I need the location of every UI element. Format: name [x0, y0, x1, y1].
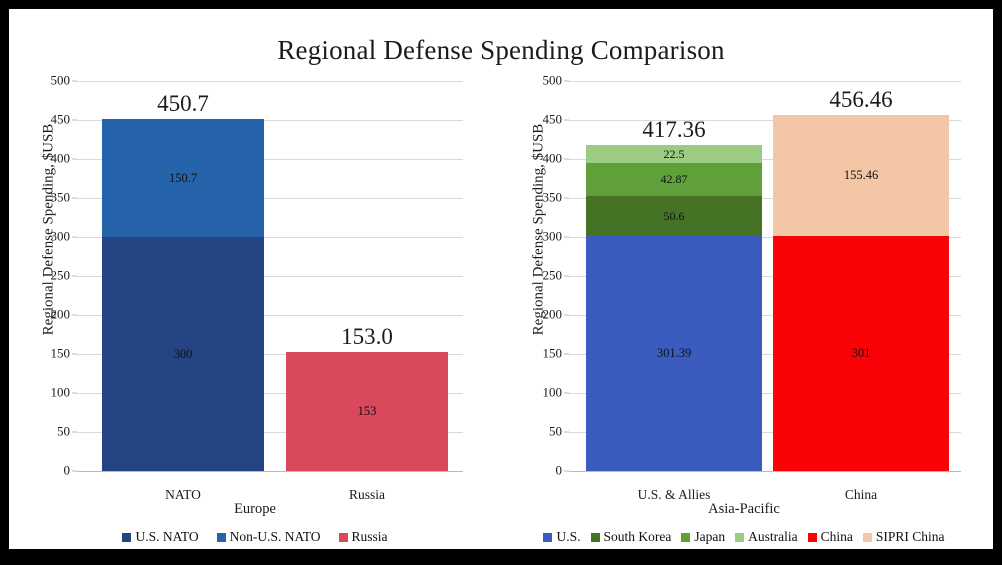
y-tick-mark	[564, 120, 569, 121]
bar-russia[interactable]: 153	[286, 352, 448, 471]
gridline	[77, 81, 463, 82]
page-title: Regional Defense Spending Comparison	[9, 35, 993, 66]
y-axis-tick-label: 0	[64, 463, 71, 479]
legend-swatch-icon	[735, 533, 744, 542]
y-tick-mark	[564, 354, 569, 355]
y-axis-tick-label: 300	[51, 229, 71, 245]
bar-total-label: 456.46	[829, 87, 892, 113]
y-axis-tick-label: 250	[543, 268, 563, 284]
bar-segment-russia[interactable]: 153	[286, 352, 448, 471]
bar-segment-u-s[interactable]: 301.39	[586, 236, 762, 471]
gridline	[569, 81, 961, 82]
y-tick-mark	[72, 315, 77, 316]
plot-area-europe: 500450400350300250200150100500450.7150.7…	[77, 81, 463, 471]
legend-label: Australia	[748, 529, 798, 545]
segment-value-label: 42.87	[661, 172, 688, 187]
bar-nato[interactable]: 150.7300	[102, 119, 264, 471]
legend-europe: U.S. NATONon-U.S. NATORussia	[15, 529, 495, 545]
legend-label: South Korea	[604, 529, 672, 545]
legend-swatch-icon	[591, 533, 600, 542]
y-axis-tick-label: 400	[51, 151, 71, 167]
y-axis-tick-label: 200	[51, 307, 71, 323]
y-axis-tick-label: 100	[51, 385, 71, 401]
bar-china[interactable]: 155.46301	[773, 115, 949, 471]
y-axis-tick-label: 350	[51, 190, 71, 206]
y-tick-mark	[564, 432, 569, 433]
y-axis-tick-label: 250	[51, 268, 71, 284]
bar-segment-australia[interactable]: 22.5	[586, 145, 762, 163]
bar-segment-japan[interactable]: 42.87	[586, 163, 762, 196]
segment-value-label: 300	[174, 347, 193, 362]
y-tick-mark	[72, 393, 77, 394]
y-tick-mark	[564, 393, 569, 394]
legend-swatch-icon	[808, 533, 817, 542]
y-tick-mark	[72, 159, 77, 160]
legend-label: U.S.	[556, 529, 580, 545]
segment-value-label: 22.5	[664, 147, 685, 162]
legend-swatch-icon	[543, 533, 552, 542]
bar-total-label: 450.7	[157, 91, 209, 117]
bar-total-label: 153.0	[341, 324, 393, 350]
legend-label: Japan	[694, 529, 725, 545]
y-tick-mark	[564, 81, 569, 82]
legend-item-u-s-nato[interactable]: U.S. NATO	[122, 529, 198, 545]
legend-swatch-icon	[122, 533, 131, 542]
y-axis-tick-label: 200	[543, 307, 563, 323]
bar-segment-non-u-s-nato[interactable]: 150.7	[102, 119, 264, 237]
legend-label: Russia	[352, 529, 388, 545]
bar-segment-sipri-china[interactable]: 155.46	[773, 115, 949, 236]
y-tick-mark	[564, 315, 569, 316]
legend-swatch-icon	[217, 533, 226, 542]
legend-swatch-icon	[681, 533, 690, 542]
y-axis-tick-label: 150	[51, 346, 71, 362]
gridline	[569, 471, 961, 472]
segment-value-label: 301.39	[657, 346, 691, 361]
gridline	[77, 471, 463, 472]
y-axis-tick-label: 0	[556, 463, 563, 479]
x-axis-title-europe: Europe	[15, 501, 495, 518]
legend-item-australia[interactable]: Australia	[735, 529, 798, 545]
legend-asia-pacific: U.S.South KoreaJapanAustraliaChinaSIPRI …	[501, 529, 987, 545]
y-axis-tick-label: 300	[543, 229, 563, 245]
y-tick-mark	[72, 471, 77, 472]
panel-asia-pacific: Regional Defense Spending, $USB 50045040…	[501, 71, 987, 521]
legend-item-non-u-s-nato[interactable]: Non-U.S. NATO	[217, 529, 321, 545]
legend-label: Non-U.S. NATO	[230, 529, 321, 545]
segment-value-label: 150.7	[169, 171, 197, 186]
y-tick-mark	[564, 276, 569, 277]
legend-swatch-icon	[339, 533, 348, 542]
y-axis-tick-label: 50	[57, 424, 70, 440]
panel-europe: Regional Defense Spending, $USB 50045040…	[15, 71, 495, 521]
y-tick-mark	[564, 237, 569, 238]
bar-segment-u-s-nato[interactable]: 300	[102, 237, 264, 471]
y-axis-tick-label: 500	[543, 73, 563, 89]
y-axis-tick-label: 100	[543, 385, 563, 401]
y-axis-tick-label: 150	[543, 346, 563, 362]
y-tick-mark	[72, 237, 77, 238]
legend-item-south-korea[interactable]: South Korea	[591, 529, 672, 545]
segment-value-label: 153	[358, 404, 377, 419]
bar-segment-south-korea[interactable]: 50.6	[586, 196, 762, 235]
legend-item-japan[interactable]: Japan	[681, 529, 725, 545]
legend-item-russia[interactable]: Russia	[339, 529, 388, 545]
y-tick-mark	[564, 471, 569, 472]
legend-label: SIPRI China	[876, 529, 945, 545]
segment-value-label: 50.6	[664, 209, 685, 224]
y-axis-tick-label: 50	[549, 424, 562, 440]
plot-area-asia: 500450400350300250200150100500417.3622.5…	[569, 81, 961, 471]
y-tick-mark	[72, 198, 77, 199]
segment-value-label: 155.46	[844, 168, 878, 183]
legend-label: China	[821, 529, 853, 545]
y-tick-mark	[72, 120, 77, 121]
legend-item-u-s[interactable]: U.S.	[543, 529, 580, 545]
y-axis-tick-label: 450	[51, 112, 71, 128]
y-axis-tick-label: 350	[543, 190, 563, 206]
y-tick-mark	[564, 159, 569, 160]
segment-value-label: 301	[852, 346, 871, 361]
bar-total-label: 417.36	[642, 117, 705, 143]
chart-frame: Regional Defense Spending Comparison Reg…	[9, 9, 993, 549]
y-axis-tick-label: 400	[543, 151, 563, 167]
y-tick-mark	[72, 276, 77, 277]
legend-item-china[interactable]: China	[808, 529, 853, 545]
y-tick-mark	[72, 432, 77, 433]
y-tick-mark	[564, 198, 569, 199]
bar-u-s-allies[interactable]: 22.542.8750.6301.39	[586, 145, 762, 471]
legend-label: U.S. NATO	[135, 529, 198, 545]
y-tick-mark	[72, 81, 77, 82]
y-axis-tick-label: 450	[543, 112, 563, 128]
x-axis-title-asia: Asia-Pacific	[501, 501, 987, 518]
y-tick-mark	[72, 354, 77, 355]
y-axis-tick-label: 500	[51, 73, 71, 89]
legend-swatch-icon	[863, 533, 872, 542]
legend-item-sipri-china[interactable]: SIPRI China	[863, 529, 945, 545]
bar-segment-china[interactable]: 301	[773, 236, 949, 471]
